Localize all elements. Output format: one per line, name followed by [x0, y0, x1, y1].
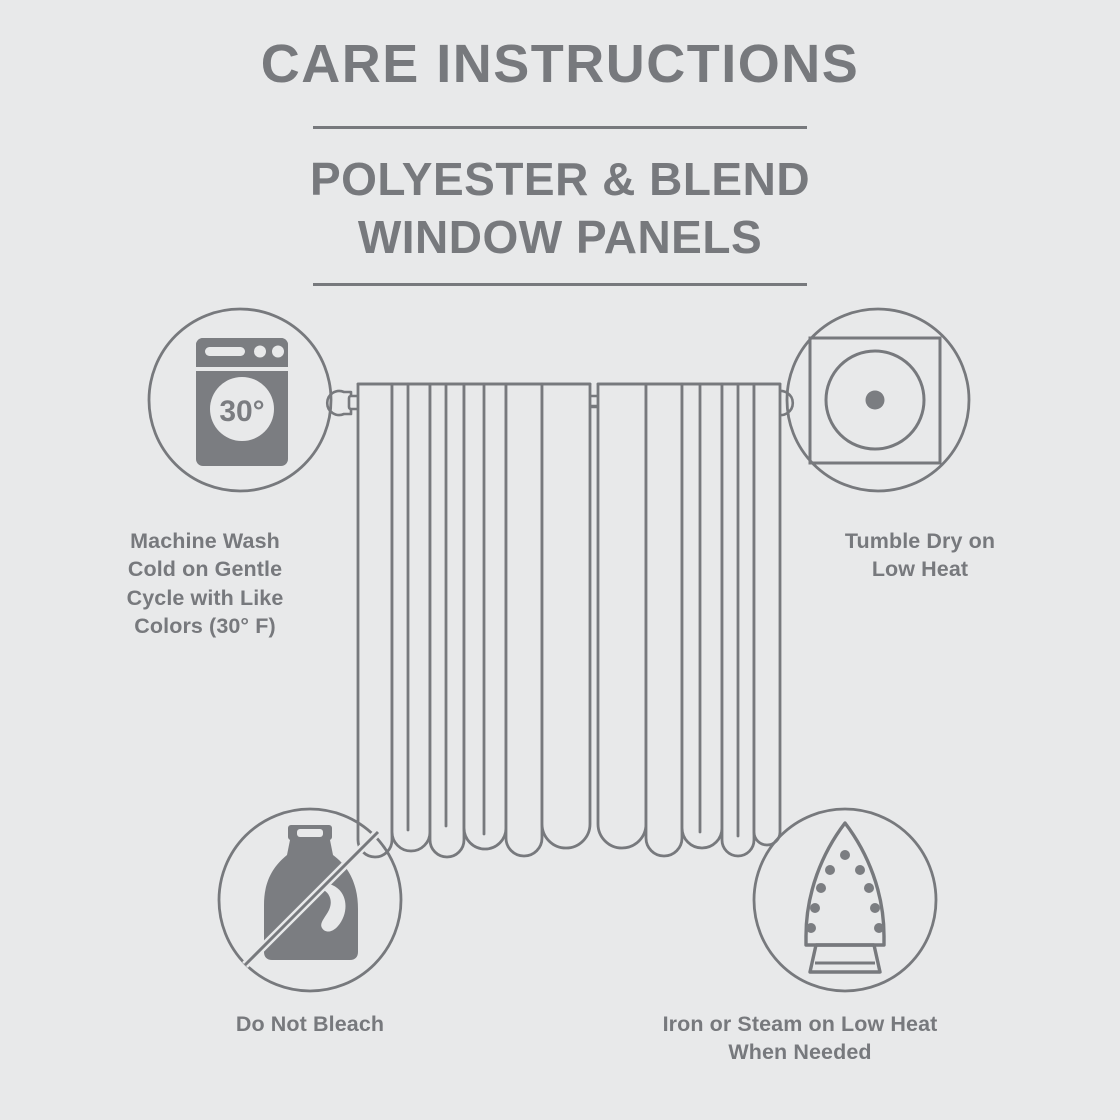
- caption-line: Iron or Steam on Low Heat: [610, 1010, 990, 1038]
- caption-do-not-bleach: Do Not Bleach: [160, 1010, 460, 1038]
- caption-iron: Iron or Steam on Low Heat When Needed: [610, 1010, 990, 1067]
- caption-line: Machine Wash: [55, 527, 355, 555]
- caption-line: When Needed: [610, 1038, 990, 1066]
- caption-line: Do Not Bleach: [160, 1010, 460, 1038]
- tumble-dry-icon: [810, 338, 940, 463]
- badge-do-not-bleach: [219, 809, 401, 991]
- wash-temperature-label: 30°: [219, 395, 264, 428]
- washing-machine-icon: 30°: [196, 338, 288, 466]
- badge-machine-wash: 30°: [149, 309, 331, 491]
- caption-line: Cycle with Like: [55, 584, 355, 612]
- caption-line: Colors (30° F): [55, 612, 355, 640]
- caption-machine-wash: Machine Wash Cold on Gentle Cycle with L…: [55, 527, 355, 641]
- badge-iron: [754, 809, 936, 991]
- iron-icon: [806, 823, 884, 972]
- caption-line: Tumble Dry on: [770, 527, 1070, 555]
- care-instructions-infographic: CARE INSTRUCTIONS POLYESTER & BLEND WIND…: [0, 0, 1120, 1120]
- right-curtain-panel: [598, 384, 780, 856]
- badge-tumble-dry: [787, 309, 969, 491]
- caption-tumble-dry: Tumble Dry on Low Heat: [770, 527, 1070, 584]
- left-curtain-panel: [358, 384, 590, 857]
- caption-line: Cold on Gentle: [55, 555, 355, 583]
- caption-line: Low Heat: [770, 555, 1070, 583]
